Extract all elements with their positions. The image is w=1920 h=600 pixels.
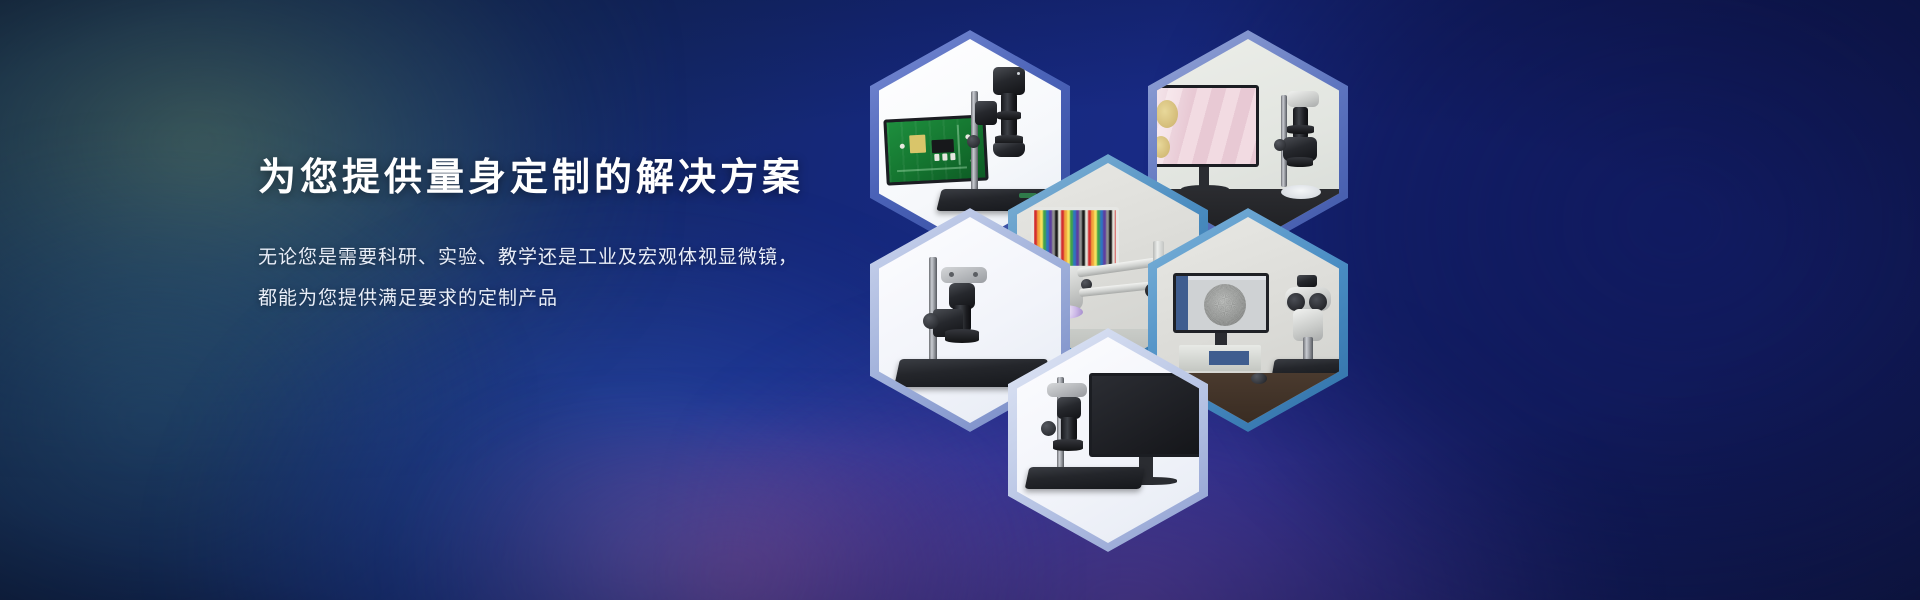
- monitor-screen: [1176, 276, 1266, 330]
- monitor-screen: [1092, 376, 1199, 454]
- pcb-pad: [909, 135, 926, 154]
- monitor-frame: [1173, 273, 1269, 333]
- monitor-frame: [1089, 373, 1199, 457]
- tissue-specimen: [1157, 100, 1178, 128]
- controller-display: [1209, 351, 1249, 365]
- banner-copy: 为您提供量身定制的解决方案 无论您是需要科研、实验、教学还是工业及宏观体视显微镜…: [258, 152, 878, 309]
- pcb-chip: [942, 153, 947, 160]
- focus-knob: [1274, 139, 1286, 151]
- monitor-frame: [1157, 85, 1259, 167]
- lens-hood: [993, 143, 1025, 157]
- objective-lens: [945, 329, 979, 343]
- focus-knob: [923, 313, 939, 329]
- camera-head: [1047, 383, 1087, 397]
- lens-tube: [1293, 107, 1308, 139]
- pcb-chip: [950, 153, 955, 160]
- focus-knob: [1041, 421, 1056, 436]
- software-sidebar: [1176, 276, 1188, 330]
- page-title: 为您提供量身定制的解决方案: [258, 152, 878, 201]
- product-hexagon-cluster: [830, 18, 1350, 488]
- objective-lens: [1053, 439, 1083, 451]
- monitor-screen: [1157, 88, 1256, 164]
- camera-head: [1287, 91, 1319, 107]
- camera-body: [1057, 397, 1081, 419]
- monitor-stand: [1199, 167, 1209, 187]
- focus-block: [975, 101, 997, 125]
- lens-tube: [1061, 417, 1077, 441]
- pcb-chip: [934, 154, 939, 161]
- objective-lens: [1287, 157, 1313, 167]
- pcb-chip: [931, 139, 954, 153]
- lens-ring: [1287, 125, 1314, 134]
- camera-port: [1297, 275, 1317, 287]
- camera-body: [993, 67, 1025, 95]
- hero-banner: 为您提供量身定制的解决方案 无论您是需要科研、实验、教学还是工业及宏观体视显微镜…: [0, 0, 1920, 600]
- base-plate: [1025, 467, 1146, 489]
- sample-dish: [1281, 185, 1321, 199]
- camera-lamp: [949, 272, 954, 277]
- subtitle-line-2: 都能为您提供满足要求的定制产品: [258, 288, 878, 309]
- software-toolbar: [1188, 276, 1266, 280]
- computer-mouse: [1251, 373, 1267, 384]
- camera-indicator: [1017, 72, 1020, 75]
- subtitle-line-1: 无论您是需要科研、实验、教学还是工业及宏观体视显微镜，: [258, 247, 878, 268]
- focus-knob: [967, 135, 980, 148]
- camera-head: [941, 267, 987, 283]
- specimen-image: [1204, 284, 1246, 326]
- camera-lamp: [973, 272, 978, 277]
- lens-ring: [997, 111, 1021, 120]
